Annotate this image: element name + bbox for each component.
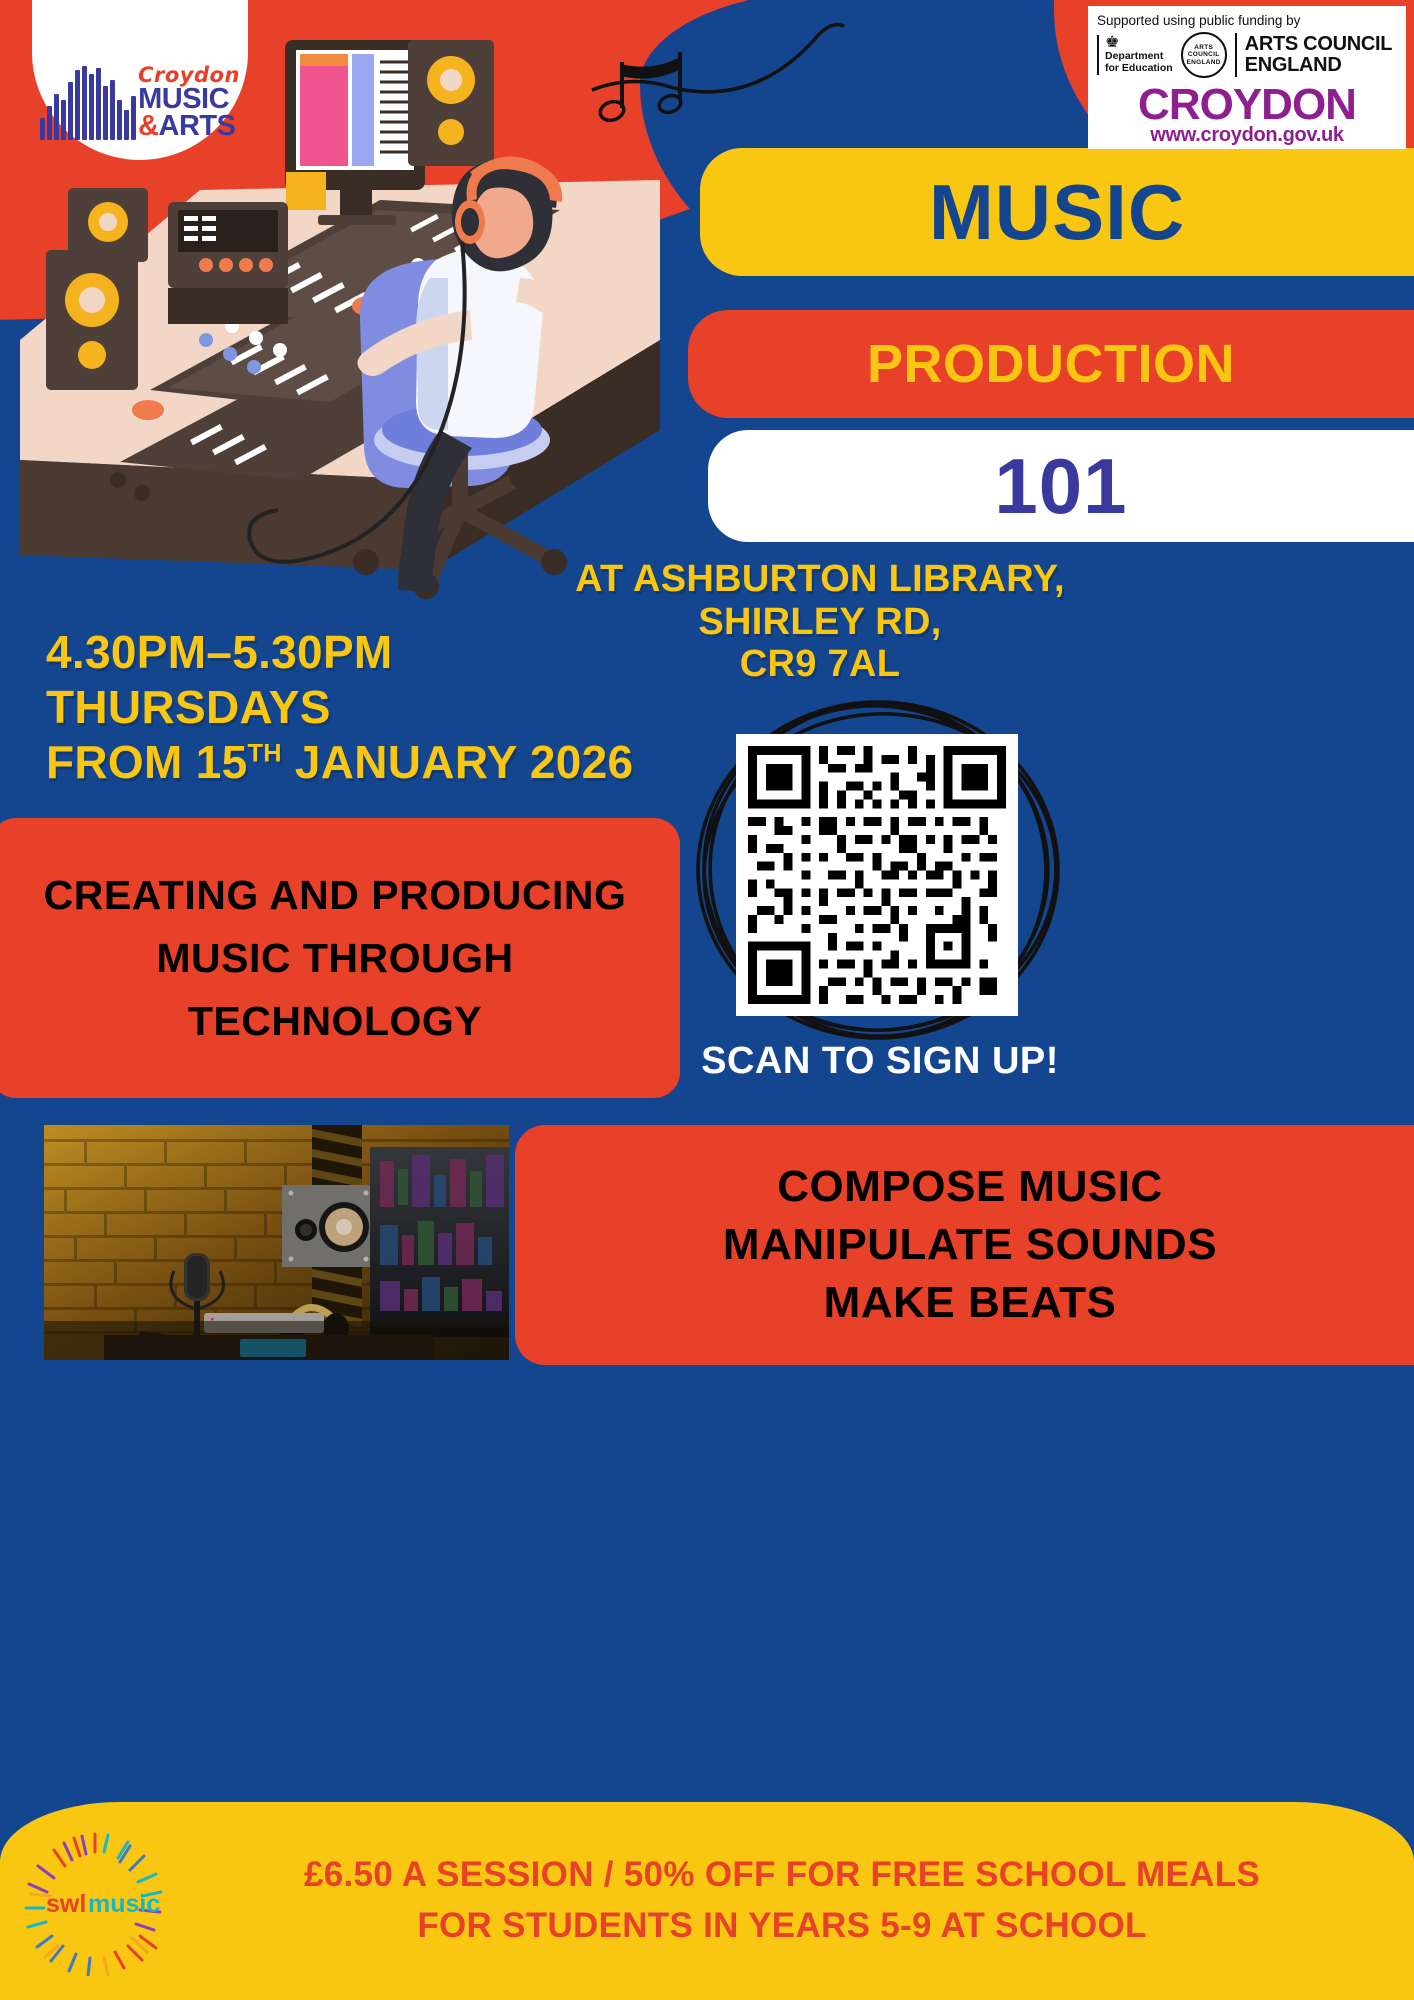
logo-arts-word: ARTS bbox=[159, 110, 236, 142]
schedule-start-ordinal: TH bbox=[247, 740, 281, 768]
activity-line-2: MANIPULATE SOUNDS bbox=[723, 1223, 1217, 1267]
description-card: CREATING AND PRODUCING MUSIC THROUGH TEC… bbox=[0, 818, 680, 1098]
qr-code-image[interactable] bbox=[736, 734, 1018, 1016]
logo-music-text: MUSIC bbox=[138, 86, 240, 113]
title-101-pill: 101 bbox=[708, 430, 1414, 542]
recording-studio-photo bbox=[44, 1125, 509, 1360]
arts-council-name-line1: ARTS COUNCIL bbox=[1245, 34, 1393, 55]
schedule-start-date: FROM 15TH JANUARY 2026 bbox=[46, 735, 686, 790]
activities-card: COMPOSE MUSIC MANIPULATE SOUNDS MAKE BEA… bbox=[515, 1125, 1414, 1365]
footer-line-2: FOR STUDENTS IN YEARS 5-9 AT SCHOOL bbox=[190, 1901, 1374, 1952]
poster-root: Croydon MUSIC &ARTS Supported using publ… bbox=[0, 0, 1414, 2000]
title-music-pill: MUSIC bbox=[700, 148, 1414, 276]
footer-pricing: £6.50 A SESSION / 50% OFF FOR FREE SCHOO… bbox=[190, 1850, 1414, 1952]
divider bbox=[1235, 33, 1237, 77]
title-production-text: PRODUCTION bbox=[867, 333, 1235, 395]
croydon-council-word: CROYDON bbox=[1096, 85, 1398, 125]
description-line-1: CREATING AND PRODUCING bbox=[44, 875, 627, 916]
croydon-music-arts-logo: Croydon MUSIC &ARTS bbox=[32, 0, 248, 160]
swl-music-logo: swl music bbox=[0, 1826, 190, 1976]
arts-council-name-line2: ENGLAND bbox=[1245, 55, 1393, 76]
title-101-text: 101 bbox=[994, 441, 1127, 532]
crown-icon: ♚ bbox=[1105, 35, 1173, 51]
activity-line-1: COMPOSE MUSIC bbox=[777, 1165, 1162, 1209]
schedule-time: 4.30PM–5.30PM bbox=[46, 625, 686, 680]
svg-text:music: music bbox=[88, 1890, 160, 1918]
footer: swl music £6.50 A SESSION / 50% OFF FOR … bbox=[0, 1802, 1414, 2000]
schedule-day: THURSDAYS bbox=[46, 680, 686, 735]
schedule-start-suffix: JANUARY 2026 bbox=[282, 736, 634, 788]
footer-line-1: £6.50 A SESSION / 50% OFF FOR FREE SCHOO… bbox=[190, 1850, 1374, 1901]
scan-caption: SCAN TO SIGN UP! bbox=[690, 1040, 1070, 1083]
dfe-logo: ♚ Department for Education bbox=[1097, 35, 1173, 75]
svg-text:swl: swl bbox=[46, 1890, 86, 1918]
dfe-line2: for Education bbox=[1105, 63, 1173, 75]
arts-council-badge: Supported using public funding by ♚ Depa… bbox=[1088, 6, 1406, 84]
croydon-council-badge: CROYDON www.croydon.gov.uk bbox=[1088, 84, 1406, 149]
arts-council-seal-text: ARTS COUNCIL ENGLAND bbox=[1183, 44, 1225, 65]
schedule-start-prefix: FROM 15 bbox=[46, 736, 247, 788]
description-line-3: TECHNOLOGY bbox=[188, 1001, 482, 1042]
description-line-2: MUSIC THROUGH bbox=[156, 938, 513, 979]
activity-line-3: MAKE BEATS bbox=[824, 1281, 1117, 1325]
title-production-pill: PRODUCTION bbox=[688, 310, 1414, 418]
venue-line-1: AT ASHBURTON LIBRARY, bbox=[560, 558, 1080, 601]
schedule-block: 4.30PM–5.30PM THURSDAYS FROM 15TH JANUAR… bbox=[46, 625, 686, 791]
logo-arts-text: &ARTS bbox=[138, 113, 240, 140]
title-music-text: MUSIC bbox=[929, 167, 1185, 258]
arts-council-seal-icon: ARTS COUNCIL ENGLAND bbox=[1181, 32, 1227, 78]
qr-code-block[interactable] bbox=[700, 700, 1060, 1050]
funder-badges: Supported using public funding by ♚ Depa… bbox=[1088, 6, 1406, 149]
arts-council-supported-line: Supported using public funding by bbox=[1097, 13, 1397, 28]
equaliser-bars-icon bbox=[40, 66, 136, 140]
music-note-doodle bbox=[590, 12, 850, 132]
logo-ampersand: & bbox=[138, 110, 158, 142]
